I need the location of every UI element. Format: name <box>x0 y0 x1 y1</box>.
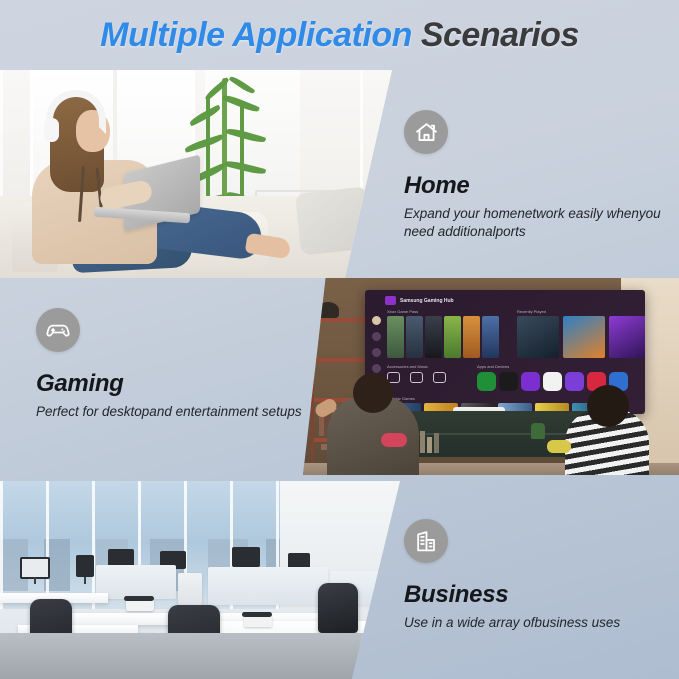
page-header: Multiple Application Scenarios <box>0 0 679 70</box>
home-heading: Home <box>404 172 666 200</box>
music-icon <box>433 372 446 383</box>
game-controller-red <box>381 433 407 447</box>
section-home: Home Expand your homenetwork easily when… <box>0 70 679 278</box>
game-controller-yellow <box>547 440 571 453</box>
app-xbox-icon <box>477 372 496 391</box>
living-room-photo <box>0 70 392 278</box>
monitor <box>232 547 260 567</box>
recently-played-tiles <box>517 316 645 358</box>
building-icon <box>404 519 448 563</box>
monitor <box>20 557 50 579</box>
home-text-block: Home Expand your homenetwork easily when… <box>404 110 666 241</box>
desk-divider <box>96 565 176 599</box>
app-twitch-icon <box>565 372 584 391</box>
business-heading: Business <box>404 581 666 609</box>
person-right <box>565 409 649 475</box>
gaming-hub-section-3: Accessories and Music <box>387 364 428 369</box>
speaker-icon <box>410 372 423 383</box>
gamepad-icon <box>36 308 80 352</box>
desk-divider <box>208 567 328 605</box>
desk-phone <box>244 615 272 627</box>
gaming-hub-logo-icon <box>385 296 396 305</box>
home-icon <box>404 110 448 154</box>
page-title: Multiple Application Scenarios <box>100 16 579 55</box>
office-chair <box>318 583 358 633</box>
gaming-hub-title: Samsung Gaming Hub <box>400 298 454 304</box>
gaming-heading: Gaming <box>36 370 316 398</box>
gaming-living-room-photo: Samsung Gaming Hub Xbox Game Pass <box>303 278 679 475</box>
business-description: Use in a wide array ofbusiness uses <box>404 614 666 632</box>
page-title-highlight: Multiple Application <box>100 16 412 54</box>
app-utomik-icon <box>543 372 562 391</box>
business-text-block: Business Use in a wide array ofbusiness … <box>404 519 666 632</box>
open-plan-office-photo <box>0 481 400 679</box>
gaming-description: Perfect for desktopand entertainment set… <box>36 403 316 421</box>
gaming-text-block: Gaming Perfect for desktopand entertainm… <box>36 308 316 421</box>
section-business: Business Use in a wide array ofbusiness … <box>0 481 679 679</box>
console-plant <box>531 423 545 439</box>
gaming-hub-section-4: Apps and Devices <box>477 364 509 369</box>
gaming-hub-section-2: Recently Played <box>517 309 546 314</box>
accessories-icons <box>387 372 446 383</box>
desk-phone <box>126 599 154 611</box>
gaming-hub-section-1: Xbox Game Pass <box>387 309 418 314</box>
settings-icon <box>372 348 381 357</box>
home-description: Expand your homenetwork easily whenyou n… <box>404 205 666 241</box>
games-icon <box>372 364 381 373</box>
search-icon <box>372 332 381 341</box>
profile-icon <box>372 316 381 325</box>
page-title-rest: Scenarios <box>412 16 579 54</box>
storage-cabinet <box>178 573 202 605</box>
app-luna-icon <box>521 372 540 391</box>
gaming-hub-header: Samsung Gaming Hub <box>385 296 454 305</box>
app-game-pass-icon <box>499 372 518 391</box>
game-pass-tiles <box>387 316 499 358</box>
monitor <box>76 555 94 577</box>
section-gaming: Samsung Gaming Hub Xbox Game Pass <box>0 278 679 475</box>
person-with-laptop <box>28 88 278 268</box>
